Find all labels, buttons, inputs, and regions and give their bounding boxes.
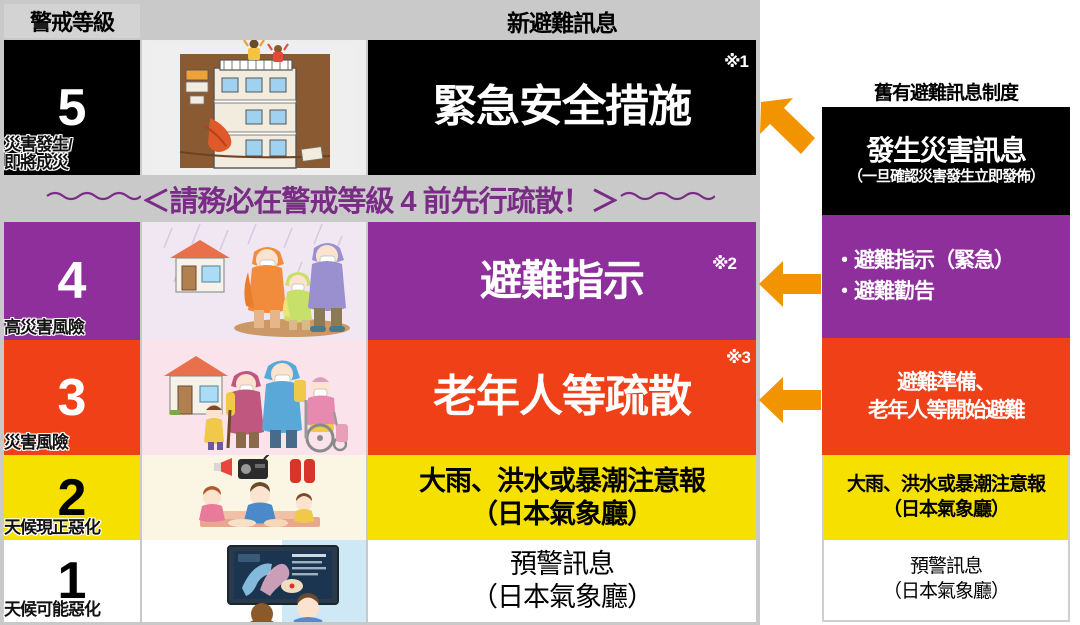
old-system-title: 舊有避難訊息制度 bbox=[822, 78, 1070, 105]
note-marker-level-5: ※1 bbox=[724, 52, 748, 72]
header-new-info-column: 新避難訊息 bbox=[368, 4, 756, 38]
old-row-disaster-occurred-main: 發生災害訊息 bbox=[866, 136, 1025, 167]
action-label-level-4: 避難指示 bbox=[480, 259, 644, 303]
old-row-advisory-line1: 大雨、洪水或暴潮注意報 bbox=[847, 473, 1045, 498]
action-level-2-line2: （日本氣象廳） bbox=[419, 498, 705, 531]
old-row-advisory: 大雨、洪水或暴潮注意報 （日本氣象廳） bbox=[822, 455, 1070, 540]
old-row-evacuation-instruction: ・避難指示（緊急） ・避難勸告 bbox=[822, 215, 1070, 338]
arrow-left-level-3-icon bbox=[757, 374, 823, 426]
elderly-wheelchair-evacuation-icon bbox=[142, 340, 366, 455]
caption-level-1: 天候可能惡化 bbox=[4, 601, 100, 619]
table-row-level-4: 4 bbox=[0, 222, 760, 340]
illustration-level-1 bbox=[142, 540, 366, 622]
action-label-level-2: 大雨、洪水或暴潮注意報 （日本氣象廳） bbox=[419, 465, 705, 531]
evacuation-alert-level-chart: 警戒等級 新避難訊息 5 bbox=[0, 0, 1080, 625]
note-marker-level-3: ※3 bbox=[726, 348, 750, 368]
illustration-level-2 bbox=[142, 455, 366, 540]
illustration-level-4 bbox=[142, 222, 366, 340]
action-level-3: 老年人等疏散 ※3 bbox=[368, 340, 756, 455]
action-level-1-line1: 預警訊息 bbox=[471, 548, 653, 581]
table-row-level-1: 1 bbox=[0, 540, 760, 622]
old-row-preparation-line1: 避難準備、 bbox=[897, 369, 995, 396]
new-evacuation-info-table: 警戒等級 新避難訊息 5 bbox=[0, 0, 760, 625]
family-radio-emergency-kit-icon bbox=[142, 455, 366, 540]
old-row-bullet-1: ・避難指示（緊急） bbox=[822, 246, 1070, 276]
action-level-5: 緊急安全措施 ※1 bbox=[368, 40, 756, 175]
action-level-2-line1: 大雨、洪水或暴潮注意報 bbox=[419, 465, 705, 498]
diagonal-arrow-up-left-icon bbox=[757, 92, 823, 164]
old-row-early-warning-line2: （日本氣象廳） bbox=[883, 580, 1009, 605]
arrow-left-level-4-icon bbox=[757, 258, 823, 310]
warning-banner-text: ＜請務必在警戒等級 4 前先行疏散！＞ bbox=[141, 178, 618, 220]
action-label-level-1: 預警訊息 （日本氣象廳） bbox=[471, 548, 653, 614]
action-level-4: 避難指示 ※2 bbox=[368, 222, 756, 340]
table-header-row: 警戒等級 新避難訊息 bbox=[0, 0, 760, 40]
building-flood-rooftop-rescue-icon bbox=[142, 40, 366, 175]
old-row-early-warning: 預警訊息 （日本氣象廳） bbox=[822, 540, 1070, 622]
table-row-level-3: 3 bbox=[0, 340, 760, 455]
old-row-preparation-line2: 老年人等開始避難 bbox=[868, 397, 1024, 424]
note-marker-level-4: ※2 bbox=[712, 254, 736, 274]
caption-level-4: 高災害風險 bbox=[4, 319, 84, 337]
old-row-disaster-occurred-sub: （一旦確認災害發生立即發佈） bbox=[848, 168, 1044, 185]
old-row-advisory-line2: （日本氣象廳） bbox=[883, 498, 1009, 523]
illustration-level-3 bbox=[142, 340, 366, 455]
action-level-1-line2: （日本氣象廳） bbox=[471, 581, 653, 614]
caption-level-5: 災害發生/ 即將成災 bbox=[4, 136, 72, 172]
table-row-level-5: 5 bbox=[0, 40, 760, 175]
table-row-level-2: 2 bbox=[0, 455, 760, 540]
action-label-level-3: 老年人等疏散 bbox=[433, 374, 691, 420]
header-level-column: 警戒等級 bbox=[4, 4, 140, 38]
family-evacuating-rain-icon bbox=[142, 222, 366, 340]
tv-typhoon-forecast-icon bbox=[142, 540, 366, 622]
action-level-1: 預警訊息 （日本氣象廳） bbox=[368, 540, 756, 622]
old-row-early-warning-line1: 預警訊息 bbox=[910, 555, 982, 580]
old-row-disaster-occurred: 發生災害訊息 （一旦確認災害發生立即發佈） bbox=[822, 107, 1070, 215]
illustration-level-5 bbox=[142, 40, 366, 175]
caption-level-5-line1: 災害發生/ bbox=[4, 136, 72, 154]
old-row-evacuation-preparation: 避難準備、 老年人等開始避難 bbox=[822, 338, 1070, 455]
old-row-bullet-2: ・避難勸告 bbox=[822, 277, 1070, 307]
old-evacuation-info-panel: 舊有避難訊息制度 發生災害訊息 （一旦確認災害發生立即發佈） ・避難指示（緊急）… bbox=[822, 0, 1070, 625]
action-label-level-5: 緊急安全措施 bbox=[433, 84, 691, 130]
squiggle-right-icon bbox=[619, 188, 715, 210]
caption-level-3: 災害風險 bbox=[4, 434, 68, 452]
squiggle-left-icon bbox=[45, 188, 141, 210]
warning-banner: ＜請務必在警戒等級 4 前先行疏散！＞ bbox=[0, 175, 760, 222]
action-level-2: 大雨、洪水或暴潮注意報 （日本氣象廳） bbox=[368, 455, 756, 540]
caption-level-5-line2: 即將成災 bbox=[4, 154, 72, 172]
caption-level-2: 天候現正惡化 bbox=[4, 519, 100, 537]
